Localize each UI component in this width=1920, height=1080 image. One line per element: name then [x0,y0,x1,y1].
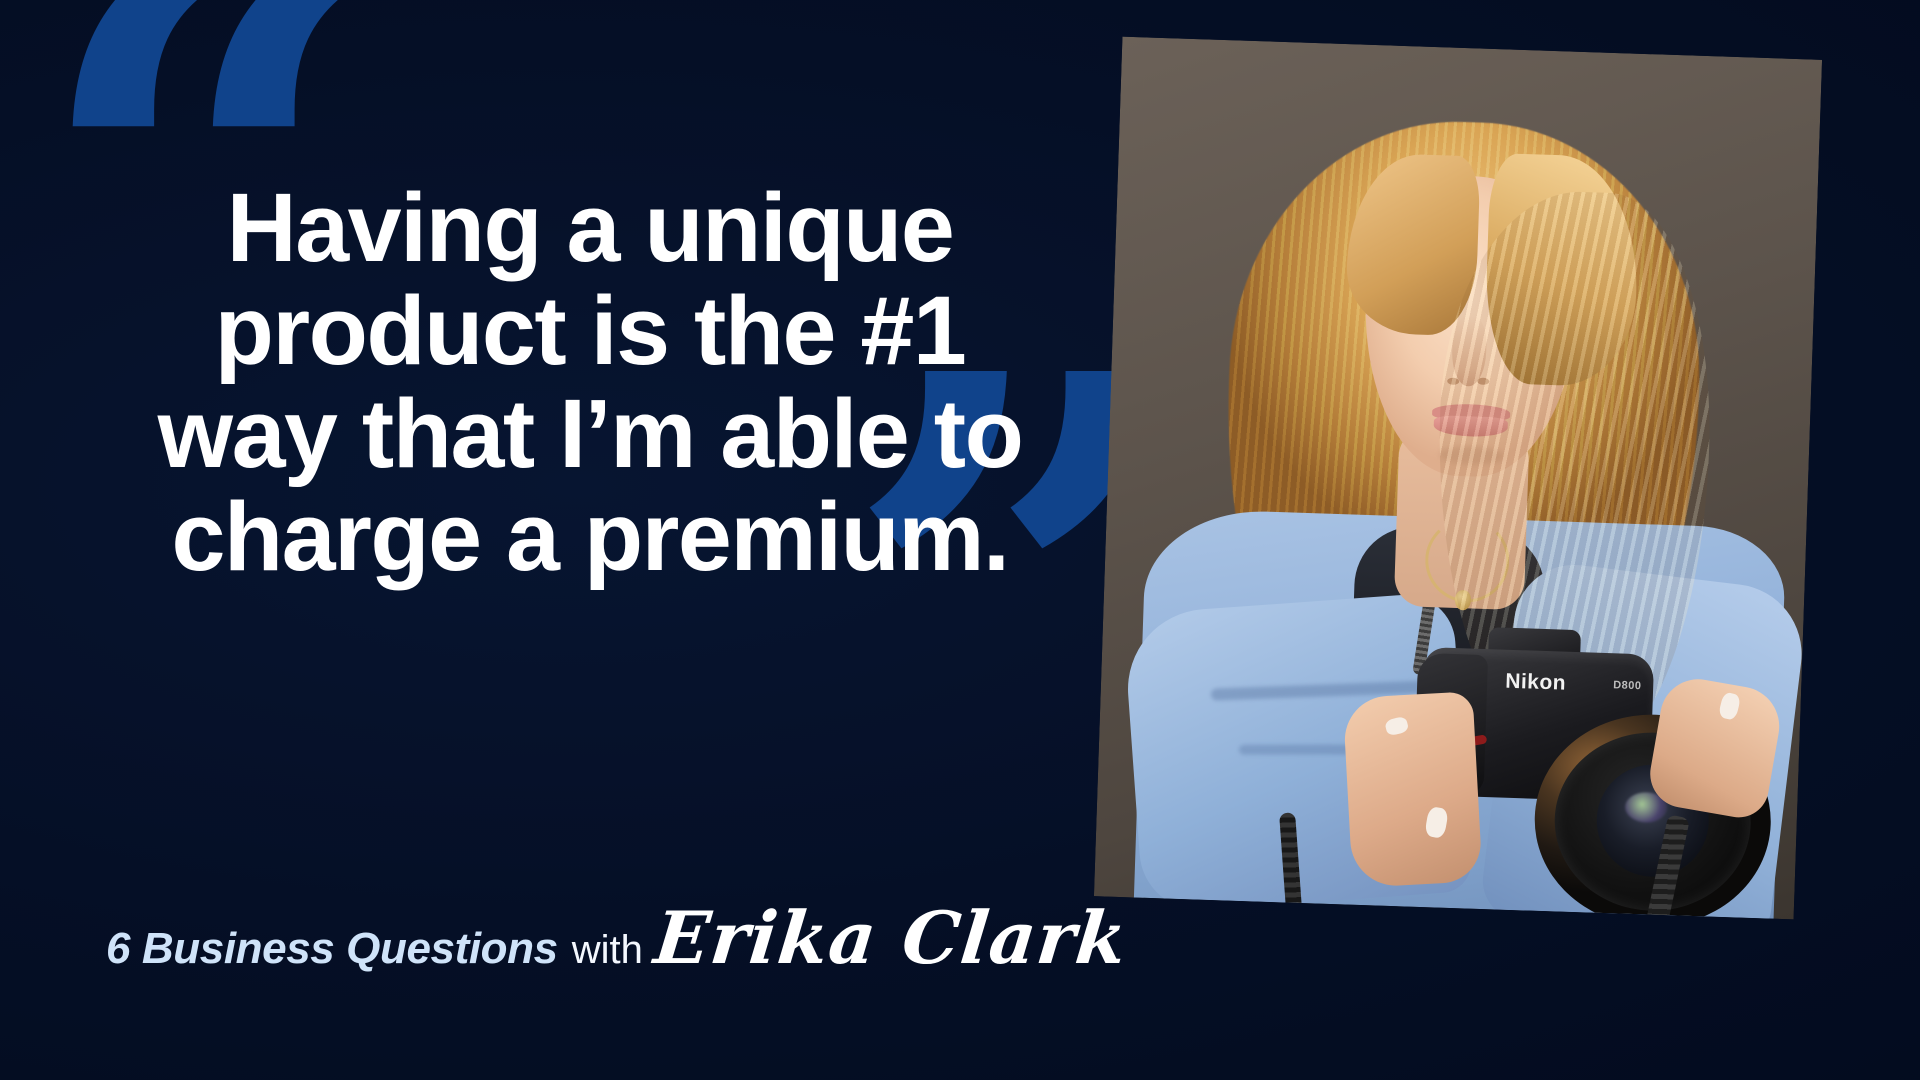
quote-card: “ ” [0,0,1920,1080]
quote-text-block: Having a unique product is the #1 way th… [50,176,1130,588]
byline: 6 Business Questions with Erika Clark [106,906,1127,974]
portrait-photo: Nikon D800 [1094,37,1822,920]
quote-line-4: charge a premium. [50,485,1130,588]
byline-series-title: 6 Business Questions [106,924,558,974]
camera-brand-label: Nikon [1505,670,1610,697]
portrait-photo-content: Nikon D800 [1094,37,1822,920]
quote-line-3: way that I’m able to [50,382,1130,485]
quote-line-1: Having a unique [50,176,1130,279]
byline-connector: with [572,928,643,973]
byline-guest-name: Erika Clark [651,906,1130,971]
hand-right [1343,691,1483,888]
hand-left [1645,673,1786,822]
camera-model-label: D800 [1613,679,1642,692]
quote-line-2: product is the #1 [50,279,1130,382]
